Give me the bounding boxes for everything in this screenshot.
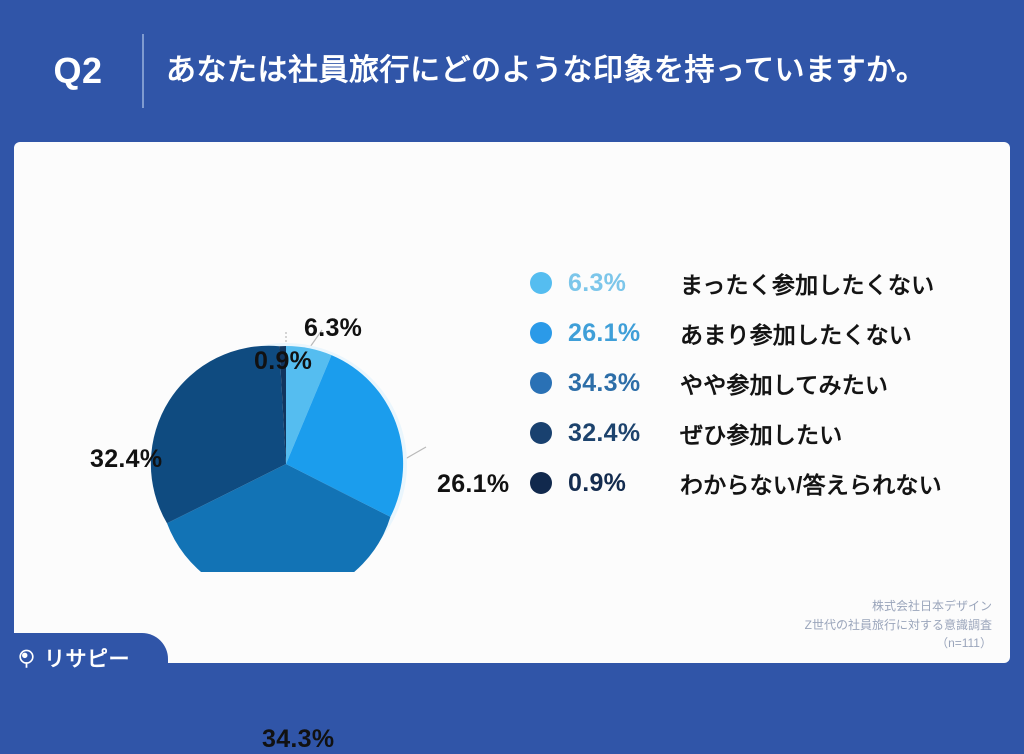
brand-logo[interactable]: リサピー bbox=[0, 633, 168, 683]
location-pin-icon bbox=[16, 648, 37, 669]
pie-value-label-26-1: 26.1% bbox=[437, 470, 509, 499]
pie-value-label-0-9: 0.9% bbox=[254, 347, 312, 376]
source-survey-name: Z世代の社員旅行に対する意識調査 bbox=[805, 616, 992, 635]
chart-legend: 6.3% まったく参加したくない 26.1% あまり参加したくない 34.3% … bbox=[530, 258, 1000, 508]
legend-item-wakaranai[interactable]: 0.9% わからない/答えられない bbox=[530, 458, 1000, 508]
page-header: Q2 あなたは社員旅行にどのような印象を持っていますか。 bbox=[0, 0, 1024, 142]
legend-dot-icon bbox=[530, 372, 552, 394]
legend-label: あまり参加したくない bbox=[680, 316, 912, 350]
legend-label: わからない/答えられない bbox=[680, 466, 942, 500]
source-company: 株式会社日本デザイン bbox=[805, 597, 992, 616]
legend-dot-icon bbox=[530, 472, 552, 494]
legend-percent: 34.3% bbox=[568, 369, 680, 398]
legend-dot-icon bbox=[530, 422, 552, 444]
pie-value-label-32-4: 32.4% bbox=[90, 445, 162, 474]
header-divider bbox=[142, 34, 144, 108]
legend-percent: 26.1% bbox=[568, 319, 680, 348]
legend-item-mattaku-sanka-shitakunai[interactable]: 6.3% まったく参加したくない bbox=[530, 258, 1000, 308]
legend-label: まったく参加したくない bbox=[680, 266, 934, 300]
legend-dot-icon bbox=[530, 322, 552, 344]
question-number: Q2 bbox=[18, 50, 138, 92]
legend-percent: 6.3% bbox=[568, 269, 680, 298]
source-sample-size: （n=111） bbox=[805, 634, 992, 653]
legend-item-zehi-sanka-shitai[interactable]: 32.4% ぜひ参加したい bbox=[530, 408, 1000, 458]
legend-percent: 0.9% bbox=[568, 469, 680, 498]
pie-chart-area: 6.3% 0.9% 32.4% 26.1% 34.3% bbox=[14, 142, 534, 663]
pie-value-label-34-3: 34.3% bbox=[262, 725, 334, 754]
legend-label: やや参加してみたい bbox=[680, 366, 888, 400]
pie-value-label-6-3: 6.3% bbox=[304, 314, 362, 343]
brand-logo-text: リサピー bbox=[44, 643, 130, 673]
legend-dot-icon bbox=[530, 272, 552, 294]
legend-percent: 32.4% bbox=[568, 419, 680, 448]
page-title: あなたは社員旅行にどのような印象を持っていますか。 bbox=[166, 52, 926, 90]
legend-item-yaya-sanka-shitemitai[interactable]: 34.3% やや参加してみたい bbox=[530, 358, 1000, 408]
legend-label: ぜひ参加したい bbox=[680, 416, 842, 450]
chart-card: 6.3% 0.9% 32.4% 26.1% 34.3% 6.3% まったく参加し… bbox=[14, 142, 1010, 663]
source-attribution: 株式会社日本デザイン Z世代の社員旅行に対する意識調査 （n=111） bbox=[805, 597, 992, 653]
legend-item-amari-sanka-shitakunai[interactable]: 26.1% あまり参加したくない bbox=[530, 308, 1000, 358]
